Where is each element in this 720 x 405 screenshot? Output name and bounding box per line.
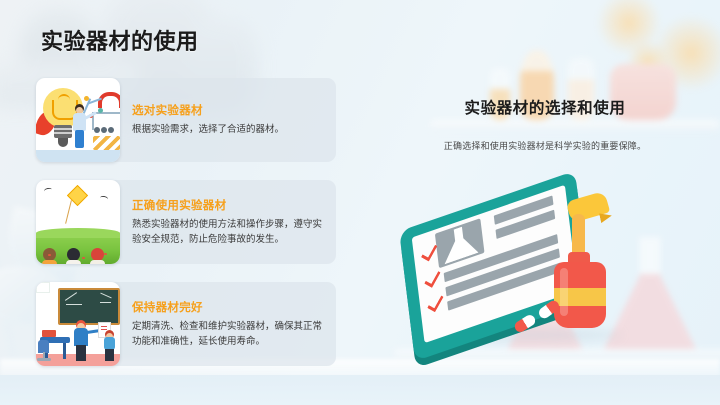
slide-root: 实验器材的使用 选对实验器材 根据实验 bbox=[0, 0, 720, 405]
card-heading: 选对实验器材 bbox=[132, 102, 284, 118]
card-heading: 保持器材完好 bbox=[132, 299, 326, 315]
classroom-teacher-icon bbox=[36, 282, 120, 366]
clipboard-checklist-illustration bbox=[392, 178, 712, 378]
card-body: 定期清洗、检查和维护实验器材，确保其正常功能和准确性，延长使用寿命。 bbox=[132, 320, 326, 349]
lightbulb-scientist-icon bbox=[36, 78, 120, 162]
feature-card[interactable]: 保持器材完好 定期清洗、检查和维护实验器材，确保其正常功能和准确性，延长使用寿命… bbox=[36, 282, 336, 366]
children-kite-icon bbox=[36, 180, 120, 264]
feature-card[interactable]: 正确使用实验器材 熟悉实验器材的使用方法和操作步骤，遵守实验安全规范，防止危险事… bbox=[36, 180, 336, 264]
right-panel: 实验器材的选择和使用 正确选择和使用实验器材是科学实验的重要保障。 bbox=[370, 0, 720, 405]
right-panel-title: 实验器材的选择和使用 bbox=[370, 96, 720, 118]
card-body: 根据实验需求，选择了合适的器材。 bbox=[132, 123, 284, 138]
feature-card-list: 选对实验器材 根据实验需求，选择了合适的器材。 正确使用实验器材 熟悉实验器材的… bbox=[36, 78, 336, 384]
dropper-bottle-icon bbox=[550, 230, 614, 334]
card-text: 保持器材完好 定期清洗、检查和维护实验器材，确保其正常功能和准确性，延长使用寿命… bbox=[132, 299, 336, 349]
card-text: 正确使用实验器材 熟悉实验器材的使用方法和操作步骤，遵守实验安全规范，防止危险事… bbox=[132, 197, 336, 247]
feature-card[interactable]: 选对实验器材 根据实验需求，选择了合适的器材。 bbox=[36, 78, 336, 162]
right-panel-subtitle: 正确选择和使用实验器材是科学实验的重要保障。 bbox=[370, 139, 720, 152]
card-heading: 正确使用实验器材 bbox=[132, 197, 326, 213]
card-body: 熟悉实验器材的使用方法和操作步骤，遵守实验安全规范，防止危险事故的发生。 bbox=[132, 218, 326, 247]
card-text: 选对实验器材 根据实验需求，选择了合适的器材。 bbox=[132, 102, 294, 138]
page-title: 实验器材的使用 bbox=[41, 24, 199, 56]
